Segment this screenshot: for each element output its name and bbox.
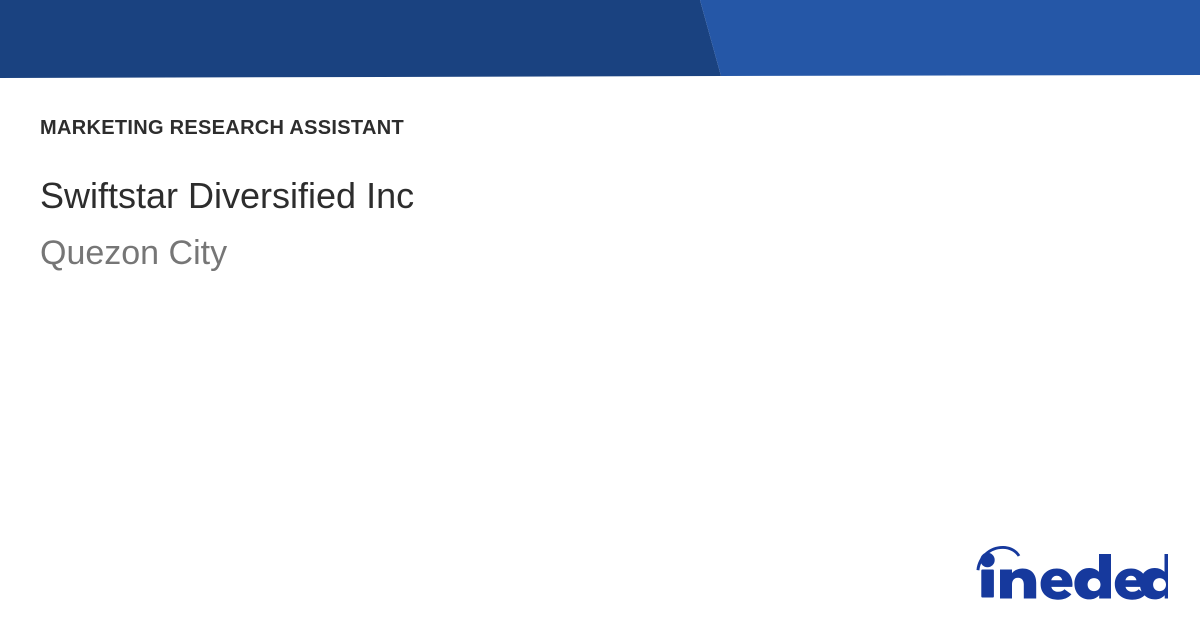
indeed-logo [968,538,1168,606]
banner-dark-shape [0,0,721,78]
banner-light-shape [700,0,1200,76]
job-location: Quezon City [40,234,1160,272]
job-info-block: MARKETING RESEARCH ASSISTANT Swiftstar D… [40,96,1160,272]
job-title: MARKETING RESEARCH ASSISTANT [40,96,1160,160]
indeed-d2-icon [1140,554,1168,599]
indeed-n-icon [1000,569,1036,599]
indeed-i-stem-icon [981,570,994,598]
indeed-wordmark-icon [977,546,1169,600]
top-banner [0,0,1200,80]
indeed-i-dot-icon [980,553,994,567]
job-share-card: MARKETING RESEARCH ASSISTANT Swiftstar D… [0,0,1200,630]
indeed-e1-icon [1041,569,1073,600]
indeed-d1-icon [1074,554,1111,599]
company-name: Swiftstar Diversified Inc [40,176,1160,216]
